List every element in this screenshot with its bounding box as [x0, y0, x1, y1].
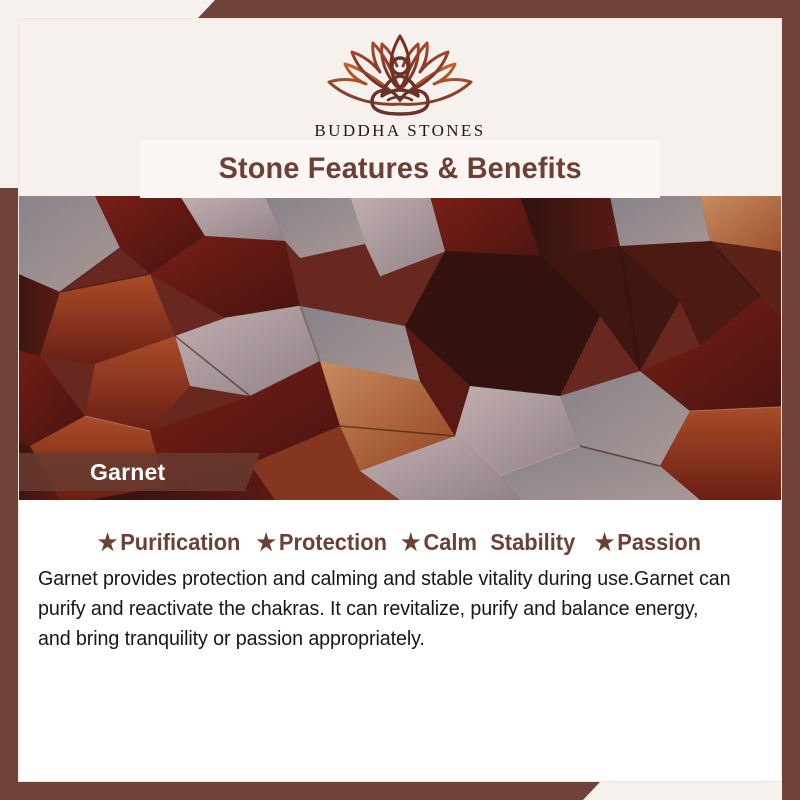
- feature-item-passion: ★Passion: [594, 529, 700, 556]
- feature-item-calm: ★Calm: [401, 529, 477, 556]
- header: BUDDHA STONES: [0, 18, 800, 140]
- feature-label: Stability: [490, 529, 575, 556]
- feature-item-stability: Stability: [490, 529, 575, 556]
- infographic-page: Garnet: [0, 0, 800, 800]
- brand-logo: BUDDHA STONES: [0, 26, 800, 141]
- frame-left-bar: [0, 188, 18, 800]
- feature-item-protection: ★Protection: [256, 529, 386, 556]
- feature-label: Calm: [424, 529, 477, 556]
- feature-label: Purification: [120, 529, 240, 556]
- feature-list: ★Purification★Protection★CalmStability★P…: [18, 500, 782, 556]
- description-text: Garnet provides protection and calming a…: [38, 564, 733, 654]
- content-panel: ★Purification★Protection★CalmStability★P…: [18, 500, 782, 782]
- star-icon: ★: [97, 531, 117, 554]
- page-title-band: Stone Features & Benefits: [140, 140, 660, 198]
- feature-label: Passion: [617, 529, 701, 556]
- frame-bottom-bar: [0, 782, 800, 800]
- star-icon: ★: [256, 531, 276, 554]
- star-icon: ★: [401, 531, 421, 554]
- page-title: Stone Features & Benefits: [218, 152, 581, 186]
- star-icon: ★: [594, 531, 614, 554]
- stone-name-bar: Garnet: [0, 453, 260, 491]
- brand-name: BUDDHA STONES: [0, 121, 800, 141]
- lotus-meditation-icon: [0, 26, 800, 123]
- stone-name-label: Garnet: [0, 459, 165, 486]
- frame-right-bar: [782, 0, 800, 800]
- frame-top-bar: [0, 0, 800, 18]
- feature-label: Protection: [279, 529, 387, 556]
- feature-item-purification: ★Purification: [97, 529, 240, 556]
